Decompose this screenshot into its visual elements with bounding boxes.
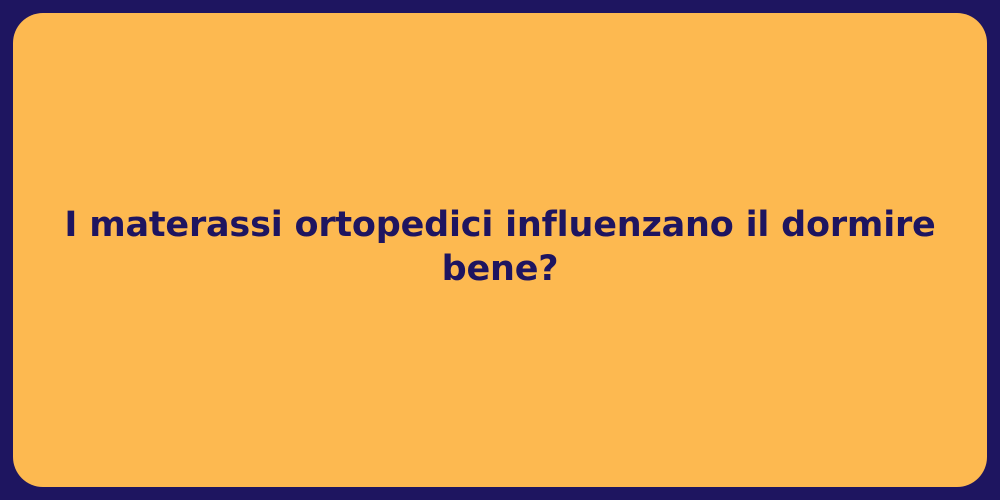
banner-root: I materassi ortopedici influenzano il do… (0, 0, 1000, 500)
page-title: I materassi ortopedici influenzano il do… (13, 204, 987, 292)
hero-card-panel: I materassi ortopedici influenzano il do… (13, 13, 987, 487)
